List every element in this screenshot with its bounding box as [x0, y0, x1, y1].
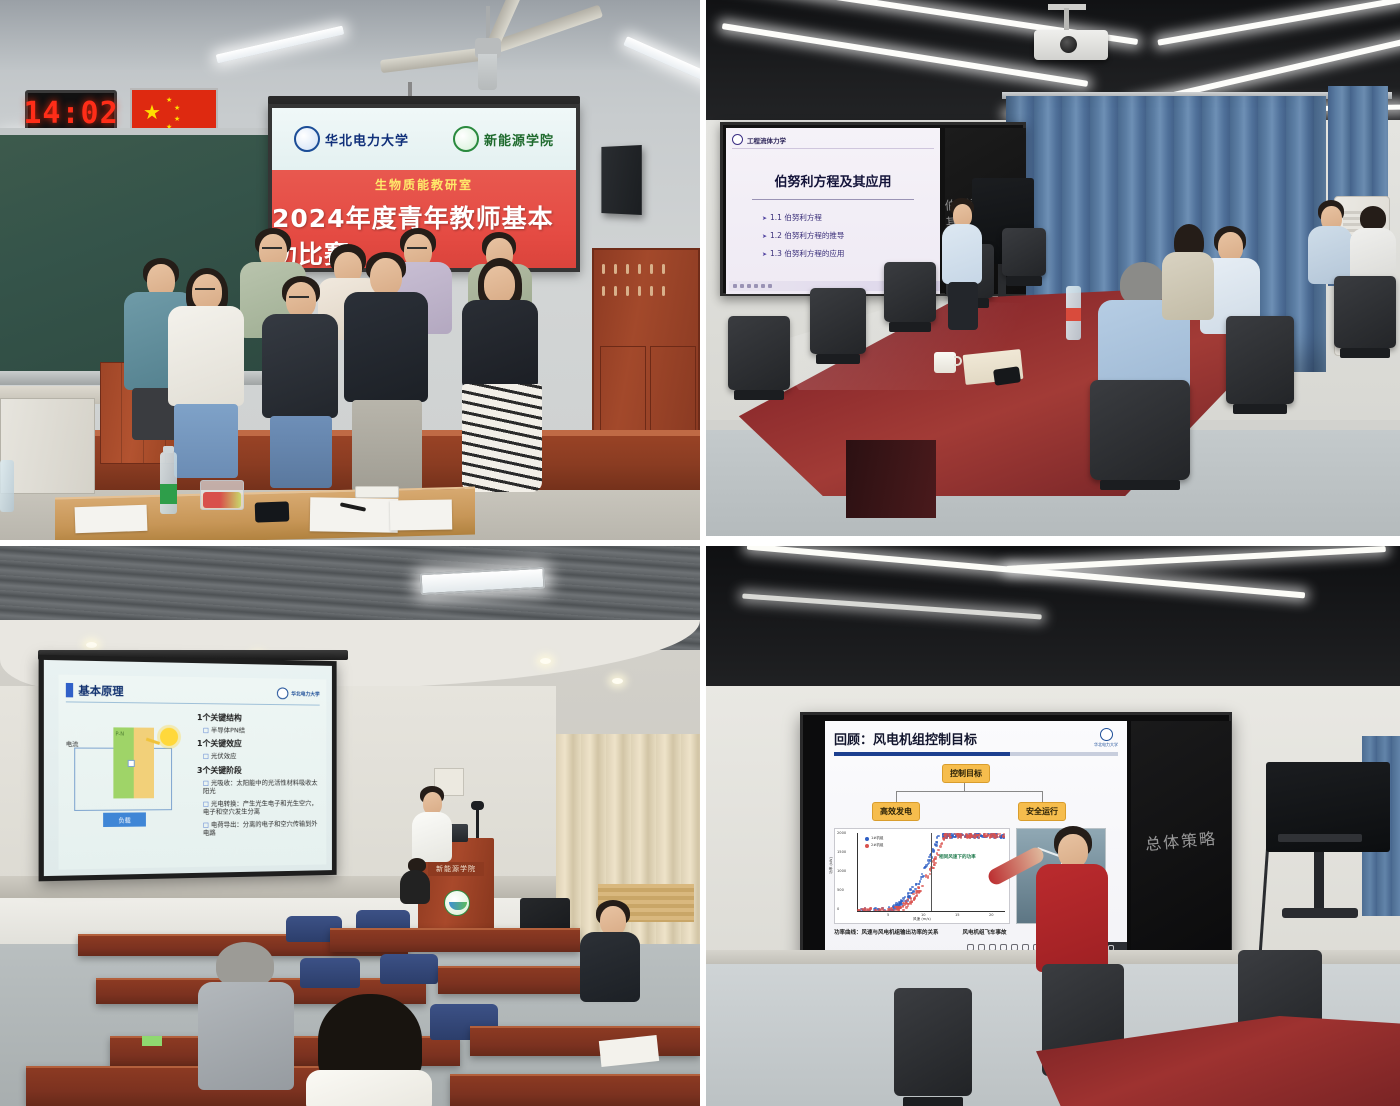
- chart-legend: 1#机组 2#机组: [865, 836, 884, 850]
- ceiling-fan-motor: [478, 54, 497, 90]
- school-branding: 新能源学院: [453, 126, 554, 152]
- office-chair: [884, 262, 936, 322]
- sun-icon: [160, 728, 178, 746]
- chart-ytick: 500: [837, 888, 844, 892]
- downlight-icon: [86, 642, 97, 648]
- chart-xlabel: 风速 (m/s): [913, 917, 931, 922]
- course-name: 工程流体力学: [747, 135, 786, 145]
- slide-title: 回顾：风电机组控制目标: [834, 729, 977, 748]
- banner-subtitle: 生物质能教研室: [375, 176, 473, 193]
- cabinet-hooks: [602, 264, 665, 274]
- chart-xtick: 5: [887, 913, 889, 917]
- bullet-heading: 1个关键结构: [197, 712, 320, 724]
- power-curve-chart: 功率 (kW) 2000 1500 1000 500 0 5 10 15 20 …: [834, 828, 1010, 924]
- flow-connector: [896, 791, 1042, 792]
- university-logo-icon: [732, 134, 743, 145]
- chart-x-axis: [857, 911, 1005, 912]
- audience-seat: [300, 958, 360, 988]
- lecture-desk: [330, 928, 580, 952]
- chart-caption: 功率曲线：风速与风电机组输出功率的关系: [834, 928, 939, 936]
- bottle-label: [160, 484, 177, 504]
- monitor-base: [1282, 908, 1358, 918]
- blackboard-handwriting: 总体策略: [1144, 825, 1218, 855]
- downlight-icon: [612, 678, 623, 684]
- table-base: [846, 440, 936, 518]
- paper-document: [75, 505, 148, 533]
- school-logo-icon: [453, 126, 479, 152]
- panel-wind-power-lecture: 回顾：风电机组控制目标 华北电力大学 控制目标 高效发电 安全运行: [706, 546, 1400, 1106]
- slide-title: 伯努利方程及其应用: [752, 171, 914, 200]
- bullet-heading: 1个关键效应: [197, 738, 320, 749]
- bullet-item: 光伏效应: [203, 752, 320, 761]
- university-branding: 华北电力大学: [277, 687, 320, 699]
- chart-ytick: 2000: [837, 831, 846, 835]
- office-chair: [1090, 380, 1190, 480]
- university-name: 华北电力大学: [291, 690, 319, 697]
- slide-title: 基本原理: [78, 682, 123, 699]
- audience-seat: [380, 954, 438, 984]
- microphone-icon: [476, 808, 479, 840]
- clock-time: 14:02: [23, 96, 118, 131]
- chart-annotation: 相同风速下的功率: [939, 855, 976, 861]
- university-logo-icon: [1100, 728, 1113, 741]
- bullet-heading: 3个关键阶段: [197, 765, 320, 776]
- office-chair: [894, 988, 972, 1096]
- flow-node-right: 安全运行: [1018, 802, 1066, 821]
- wall-speaker-icon: [601, 145, 641, 215]
- cabinet-hooks: [602, 286, 665, 296]
- ceiling-projector: [1034, 30, 1108, 60]
- slide-header: 回顾：风电机组控制目标 华北电力大学: [834, 728, 1118, 748]
- chart-ylabel: 功率 (kW): [829, 857, 834, 874]
- paper-document: [390, 499, 453, 530]
- wooden-cabinet: [592, 248, 700, 438]
- flag-star-small: ★: [174, 105, 180, 112]
- pen-box: [355, 486, 399, 498]
- flag-star-large: ★: [143, 103, 161, 123]
- legend-entry: 1#机组: [865, 836, 884, 841]
- flow-node-left: 高效发电: [872, 802, 920, 821]
- office-chair: [810, 288, 866, 354]
- podium-nameplate: 新能源学院: [428, 862, 484, 876]
- flow-connector: [1042, 791, 1043, 802]
- slide-bullet: 1.1 伯努利方程: [762, 212, 934, 223]
- projector-mount: [1064, 8, 1069, 32]
- junction-node: [128, 760, 135, 767]
- blackboard-area: 总体策略: [1131, 721, 1231, 959]
- slide-title-group: 基本原理: [66, 682, 124, 699]
- chart-ytick: 1500: [837, 850, 846, 854]
- slide-header: 工程流体力学: [732, 134, 934, 149]
- screen-header: 华北电力大学 新能源学院: [272, 108, 576, 170]
- photo-caption: 风电机组飞车事故: [963, 928, 1007, 936]
- rated-speed-line: [931, 833, 932, 911]
- bottle-label: [1066, 308, 1081, 321]
- flag-star-small: ★: [174, 116, 180, 123]
- pv-cell-diagram: 电流 P-N 负载: [66, 711, 191, 850]
- water-bottle: [160, 452, 177, 514]
- university-name: 华北电力大学: [325, 130, 409, 149]
- coffee-mug: [934, 352, 956, 373]
- flow-node-root: 控制目标: [942, 764, 990, 783]
- university-logo-icon: [294, 126, 320, 152]
- chart-xtick: 15: [955, 913, 960, 917]
- projector-lens-icon: [1060, 36, 1077, 53]
- monitor-stand: [1314, 852, 1324, 912]
- university-branding: 华北电力大学: [1094, 728, 1118, 748]
- university-branding: 华北电力大学: [294, 126, 409, 152]
- fruit-items: [203, 492, 241, 508]
- office-chair: [1226, 316, 1294, 404]
- office-chair: [1002, 228, 1046, 276]
- diagram-label-junction: P-N: [115, 731, 124, 737]
- bullet-item: 光吸收：太阳能中的光活性材料吸收太阳光: [203, 779, 320, 796]
- legend-label: 2#机组: [871, 843, 884, 848]
- sticky-note: [142, 1036, 162, 1046]
- water-bottle: [0, 460, 14, 512]
- office-chair: [728, 316, 790, 390]
- flow-connector: [896, 791, 897, 802]
- slide-divider: [834, 752, 1118, 756]
- slide-body: 电流 P-N 负载 1个关键结构 半导体PN结 1个关键效应: [66, 711, 320, 850]
- school-name: 新能源学院: [484, 130, 554, 149]
- flag-star-small: ★: [166, 97, 172, 104]
- office-chair: [1334, 276, 1396, 348]
- slide-bullet: 1.3 伯努利方程的应用: [762, 248, 934, 259]
- university-name: 华北电力大学: [1094, 742, 1118, 748]
- bullet-item: 电荷导出：分离的电子和空穴传输到外电路: [203, 819, 320, 837]
- side-cabinet: [0, 398, 95, 494]
- chart-ytick: 0: [837, 907, 839, 911]
- projection-screen: 基本原理 华北电力大学 电流 P-N: [39, 655, 337, 882]
- title-accent-bar: [66, 683, 73, 697]
- panel-meeting-room: 工程流体力学 伯努利方程及其应用 1.1 伯努利方程 1.2 伯努利方程的推导 …: [706, 0, 1400, 536]
- university-logo-icon: [277, 687, 288, 699]
- bullet-item: 光电转换：产生光生电子和光生空穴，电子和空穴发生分离: [203, 799, 320, 817]
- bottle-cap: [163, 446, 174, 453]
- chart-xtick: 20: [989, 913, 994, 917]
- slide-header: 基本原理 华北电力大学: [66, 682, 320, 702]
- interactive-whiteboard[interactable]: 回顾：风电机组控制目标 华北电力大学 控制目标 高效发电 安全运行: [800, 712, 1232, 970]
- slide-bullet: 1.2 伯努利方程的推导: [762, 230, 934, 241]
- legend-entry: 2#机组: [865, 843, 884, 848]
- presentation-slide: 基本原理 华北电力大学 电流 P-N: [59, 675, 327, 870]
- panel-lecture-hall: 基本原理 华北电力大学 电流 P-N: [0, 546, 700, 1106]
- flow-diagram: 控制目标 高效发电 安全运行: [834, 764, 1118, 822]
- lecture-desk: [470, 1026, 700, 1056]
- bullet-item: 半导体PN结: [203, 726, 320, 735]
- panel-group-photo: 14:02 ★ ★ ★ ★ ★ 华北电力大学 新能源学院: [0, 0, 700, 540]
- slide-bullets: 1个关键结构 半导体PN结 1个关键效应 光伏效应 3个关键阶段 光吸收：太阳能…: [197, 712, 320, 848]
- school-emblem-icon: [444, 890, 470, 916]
- smartphone: [255, 501, 290, 522]
- downlight-icon: [540, 658, 551, 664]
- monitor-cart-shelf: [1278, 834, 1362, 842]
- photo-collage: 14:02 ★ ★ ★ ★ ★ 华北电力大学 新能源学院: [0, 0, 1400, 1106]
- water-bottle: [1066, 286, 1081, 340]
- chart-ytick: 1000: [837, 869, 846, 873]
- cabinet-door: [650, 346, 696, 434]
- slide-bullet-list: 1.1 伯努利方程 1.2 伯努利方程的推导 1.3 伯努利方程的应用: [762, 212, 934, 259]
- lecture-desk: [450, 1074, 700, 1106]
- slide-divider: [66, 701, 320, 705]
- paper-document: [310, 497, 399, 533]
- cabinet-door: [600, 346, 646, 434]
- legend-label: 1#机组: [871, 836, 884, 841]
- diagram-label-load: 负载: [103, 812, 146, 827]
